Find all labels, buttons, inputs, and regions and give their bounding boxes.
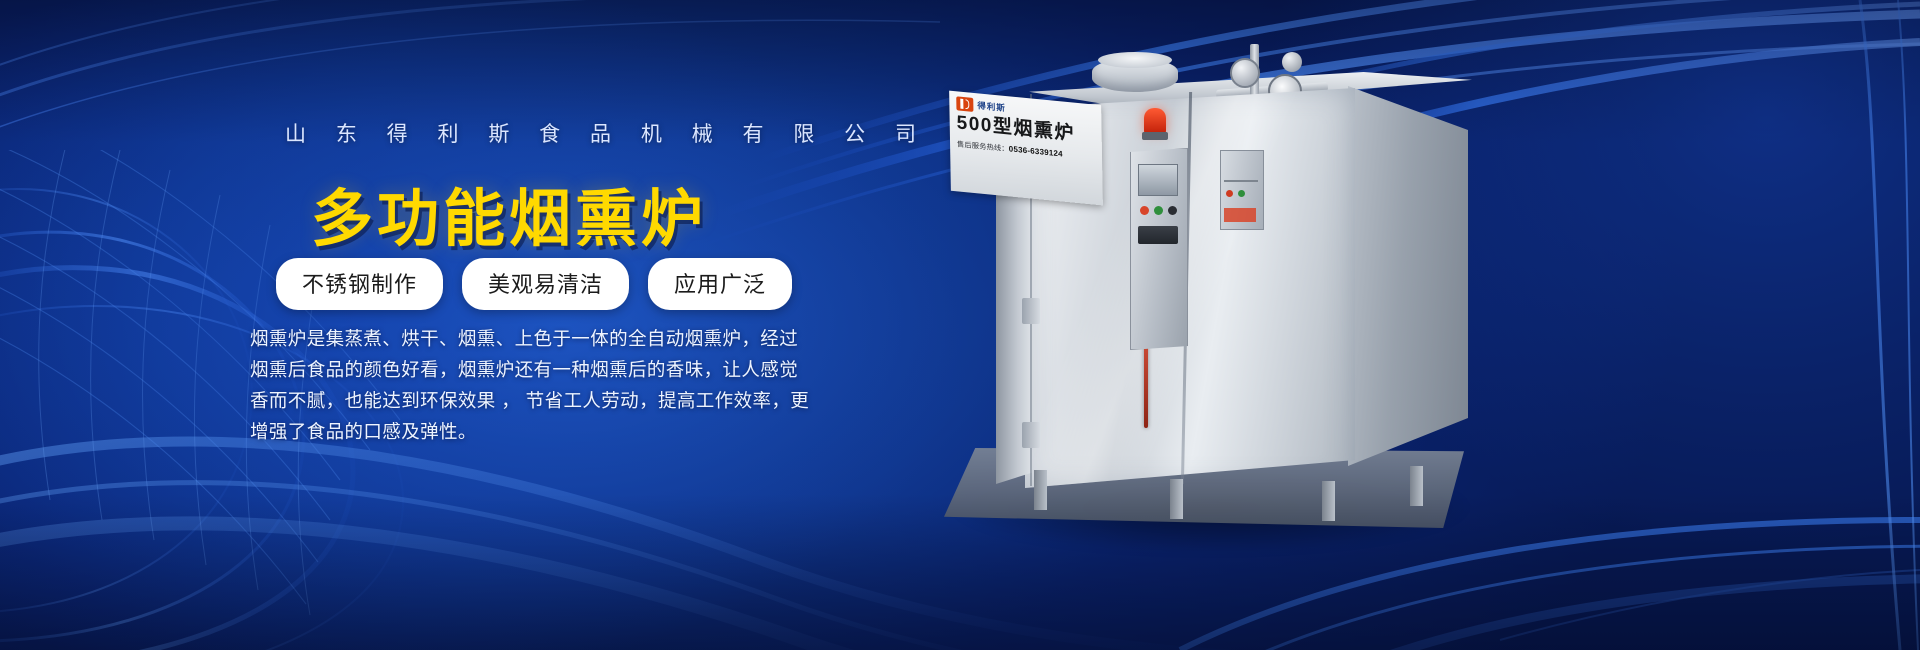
door-hinge	[1022, 422, 1040, 448]
product-hero-banner: 得利斯 500型烟熏炉 售后服务热线：0536-6339124 山 东 得 利 …	[0, 0, 1920, 650]
secondary-cabinet-line	[1224, 180, 1258, 182]
control-button-black	[1168, 206, 1177, 215]
machine-leg	[1034, 470, 1047, 510]
page-title: 多功能烟熏炉	[311, 168, 707, 258]
banner-text-content: 山 东 得 利 斯 食 品 机 械 有 限 公 司 多功能烟熏炉 不锈钢制作 美…	[0, 0, 860, 650]
machine-nameplate: 得利斯 500型烟熏炉 售后服务热线：0536-6339124	[949, 91, 1103, 206]
nameplate-brand: 得利斯	[977, 99, 1006, 114]
indicator-light-red	[1226, 190, 1233, 197]
product-description: 烟熏炉是集蒸煮、烘干、烟熏、上色于一体的全自动烟熏炉，经过烟熏后食品的颜色好看，…	[250, 323, 815, 447]
product-image: 得利斯 500型烟熏炉 售后服务热线：0536-6339124	[930, 30, 1490, 560]
machine-side-panel	[1348, 82, 1468, 482]
secondary-cabinet-label	[1224, 208, 1256, 222]
feature-pill-stainless[interactable]: 不锈钢制作	[276, 258, 443, 310]
control-button-green	[1154, 206, 1163, 215]
feature-pill-list: 不锈钢制作 美观易清洁 应用广泛	[276, 258, 792, 310]
valve-secondary-icon	[1282, 52, 1302, 72]
control-button-red	[1140, 206, 1149, 215]
chimney-cap	[1098, 52, 1172, 68]
control-panel-display	[1138, 164, 1178, 196]
nameplate-service-phone: 0536-6339124	[1009, 144, 1063, 158]
control-panel-strip	[1138, 226, 1178, 244]
nameplate-service-label: 售后服务热线：	[957, 139, 1009, 153]
valve-icon	[1230, 58, 1260, 88]
machine-leg	[1410, 466, 1423, 506]
feature-pill-easy-clean[interactable]: 美观易清洁	[462, 258, 629, 310]
machine-leg	[1322, 481, 1335, 521]
alarm-beacon-base	[1142, 132, 1168, 140]
product-description-text: 烟熏炉是集蒸煮、烘干、烟熏、上色于一体的全自动烟熏炉，经过烟熏后食品的颜色好看，…	[250, 323, 815, 447]
feature-pill-wide-use[interactable]: 应用广泛	[648, 258, 792, 310]
company-name: 山 东 得 利 斯 食 品 机 械 有 限 公 司	[285, 118, 928, 148]
indicator-light-green	[1238, 190, 1245, 197]
machine-leg	[1170, 479, 1183, 519]
brand-logo-icon	[956, 96, 973, 112]
alarm-beacon-icon	[1144, 108, 1166, 134]
door-hinge	[1022, 298, 1040, 324]
